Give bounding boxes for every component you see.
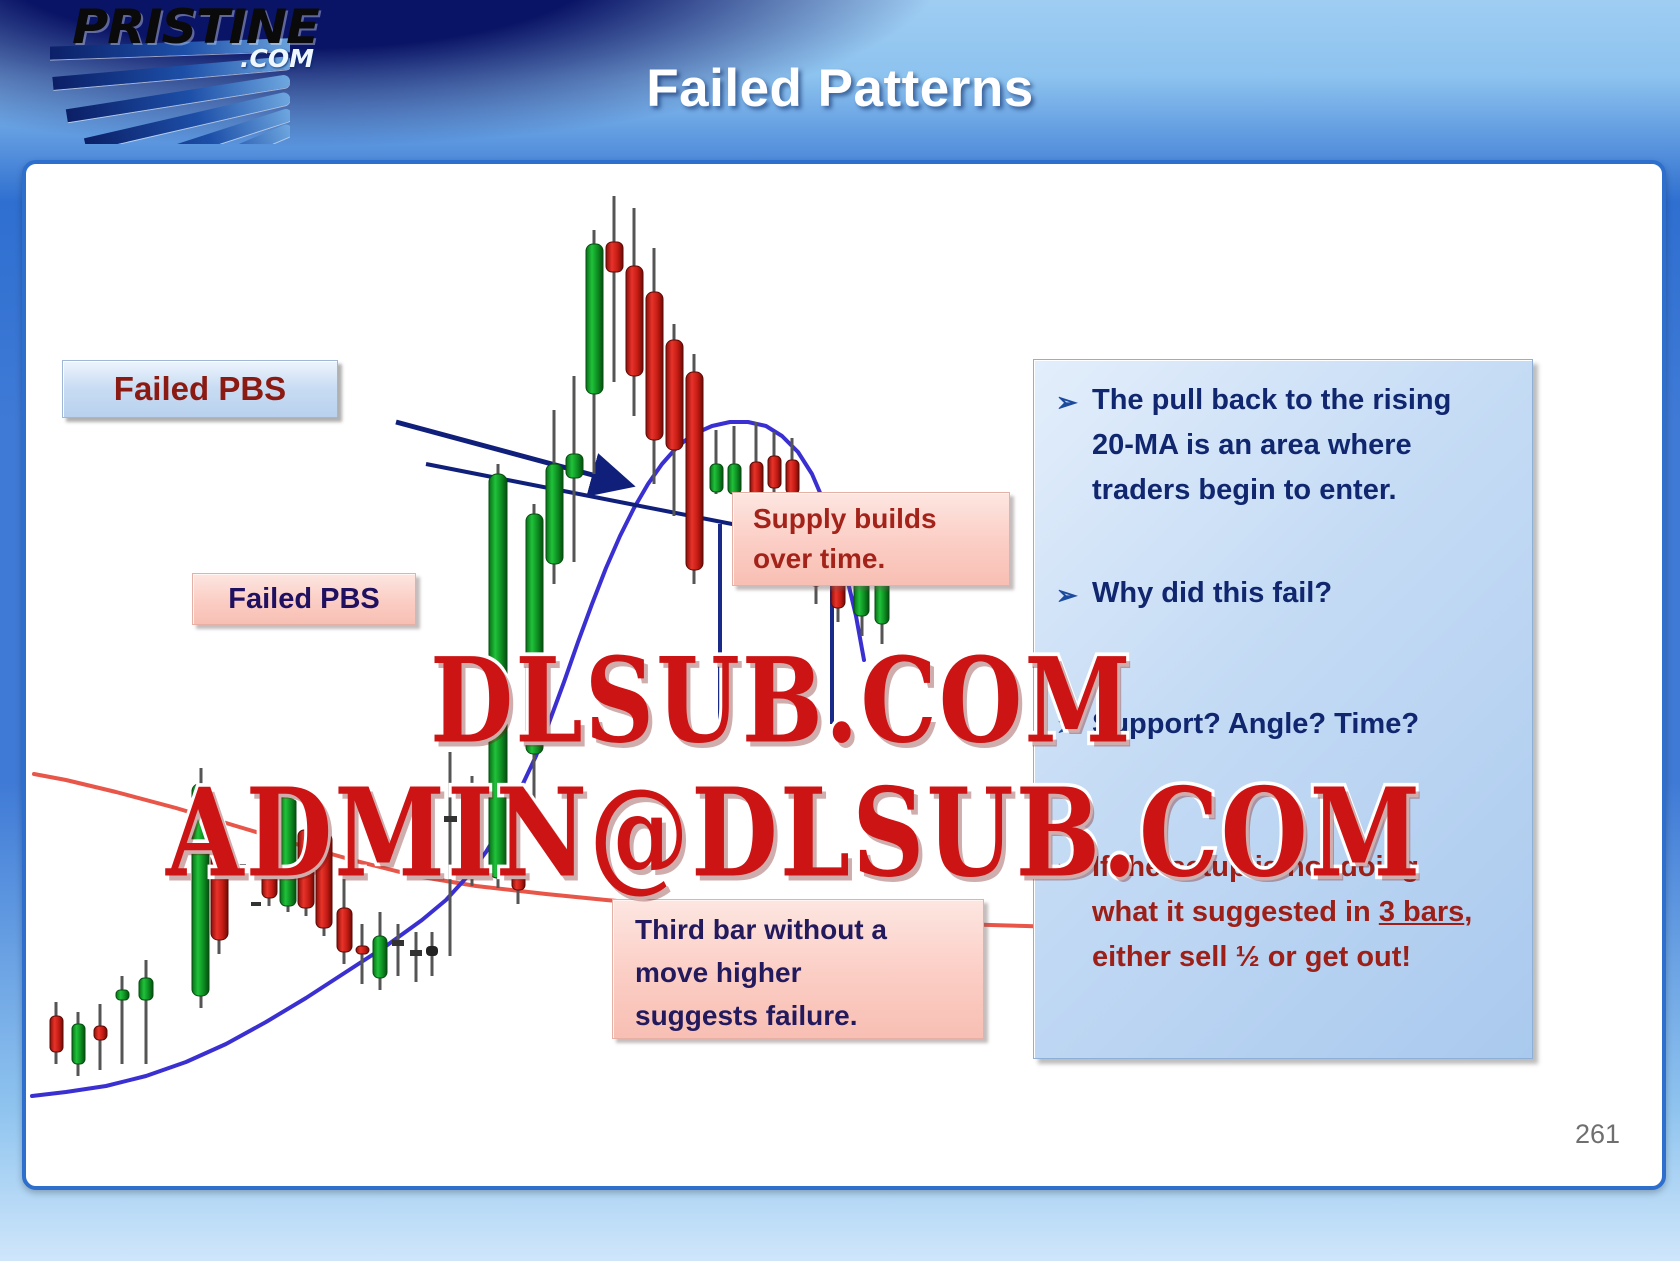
note-pullback-line-2: 20-MA is an area where — [1092, 423, 1518, 468]
bullet-arrow-icon: ➢ — [1056, 706, 1078, 746]
note-pullback-line-3: traders begin to enter. — [1092, 468, 1518, 513]
note-three-bars-line-2-prefix: what it suggested in — [1092, 896, 1379, 928]
callout-failed-pbs-title-text: Failed PBS — [63, 361, 337, 417]
notes-panel: ➢ The pull back to the rising 20-MA is a… — [1033, 359, 1533, 1059]
callout-third-bar-line-3: suggests failure. — [635, 994, 983, 1037]
failed-pbs-arrow — [396, 422, 626, 484]
page-title: Failed Patterns — [0, 58, 1680, 119]
note-why-fail: ➢ Why did this fail? — [1048, 571, 1518, 616]
callout-supply-builds: Supply builds over time. — [732, 492, 1010, 586]
page-number: 261 — [1575, 1119, 1620, 1150]
callout-failed-pbs-title: Failed PBS — [62, 360, 338, 418]
note-three-bars-line-2-suffix: , — [1464, 896, 1472, 928]
note-pullback-line-1: The pull back to the rising — [1092, 378, 1518, 423]
content-frame: Failed PBS Failed PBS Supply builds over… — [22, 160, 1666, 1190]
callout-supply-line-2: over time. — [753, 539, 1009, 579]
slide-canvas: PRISTINE .COM Failed Patterns — [0, 0, 1680, 1261]
callout-failed-pbs-label-text: Failed PBS — [193, 574, 415, 624]
bullet-arrow-icon: ➢ — [1056, 382, 1078, 422]
note-three-bars-line-3: either sell ½ or get out! — [1092, 935, 1518, 980]
note-three-bars-line-1: If the setup is not doing — [1092, 845, 1518, 890]
note-support-angle-time-line-1: Support? Angle? Time? — [1092, 702, 1518, 747]
callout-third-bar: Third bar without a move higher suggests… — [612, 899, 984, 1039]
note-three-bars-underline: 3 bars — [1379, 896, 1464, 928]
callout-failed-pbs-label: Failed PBS — [192, 573, 416, 625]
note-three-bars-line-2: what it suggested in 3 bars, — [1092, 890, 1518, 935]
bullet-arrow-icon: ➢ — [1056, 849, 1078, 889]
callout-supply-line-1: Supply builds — [753, 499, 1009, 539]
note-why-fail-line-1: Why did this fail? — [1092, 571, 1518, 616]
note-three-bars: ➢ If the setup is not doing what it sugg… — [1048, 845, 1518, 980]
slide-header: PRISTINE .COM Failed Patterns — [0, 0, 1680, 152]
note-pullback: ➢ The pull back to the rising 20-MA is a… — [1048, 378, 1518, 513]
callout-third-bar-line-2: move higher — [635, 951, 983, 994]
bullet-arrow-icon: ➢ — [1056, 575, 1078, 615]
note-support-angle-time: ➢ Support? Angle? Time? — [1048, 702, 1518, 747]
callout-third-bar-line-1: Third bar without a — [635, 908, 983, 951]
